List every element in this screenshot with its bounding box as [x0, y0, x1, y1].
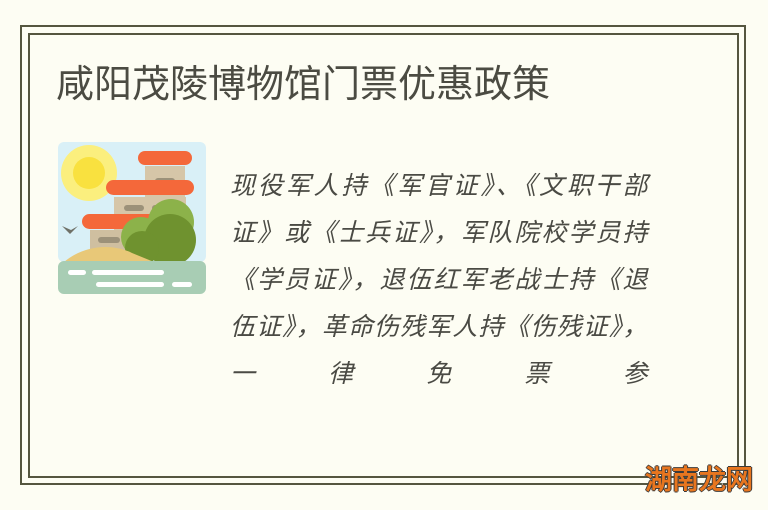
wave-line-4	[172, 282, 192, 287]
tower-lower-window	[98, 237, 120, 243]
article-body: 现役军人持《军官证》、《文职干部证》或《士兵证》，军队院校学员持《学员证》，退伍…	[230, 162, 648, 397]
wave-line-2	[92, 270, 164, 275]
tower-upper-roof	[138, 151, 192, 165]
tower-middle-window-left	[124, 205, 144, 211]
museum-landscape-illustration	[58, 142, 206, 294]
wave-line-1	[68, 270, 86, 275]
tower-middle-roof	[106, 180, 194, 195]
water-rect	[58, 261, 206, 294]
site-watermark: 湖南龙网	[645, 466, 753, 496]
page-title: 咸阳茂陵博物馆门票优惠政策	[56, 62, 550, 108]
article-card: 咸阳茂陵博物馆门票优惠政策	[0, 0, 768, 510]
sun-core-circle	[73, 157, 105, 189]
wave-line-3	[96, 282, 164, 287]
